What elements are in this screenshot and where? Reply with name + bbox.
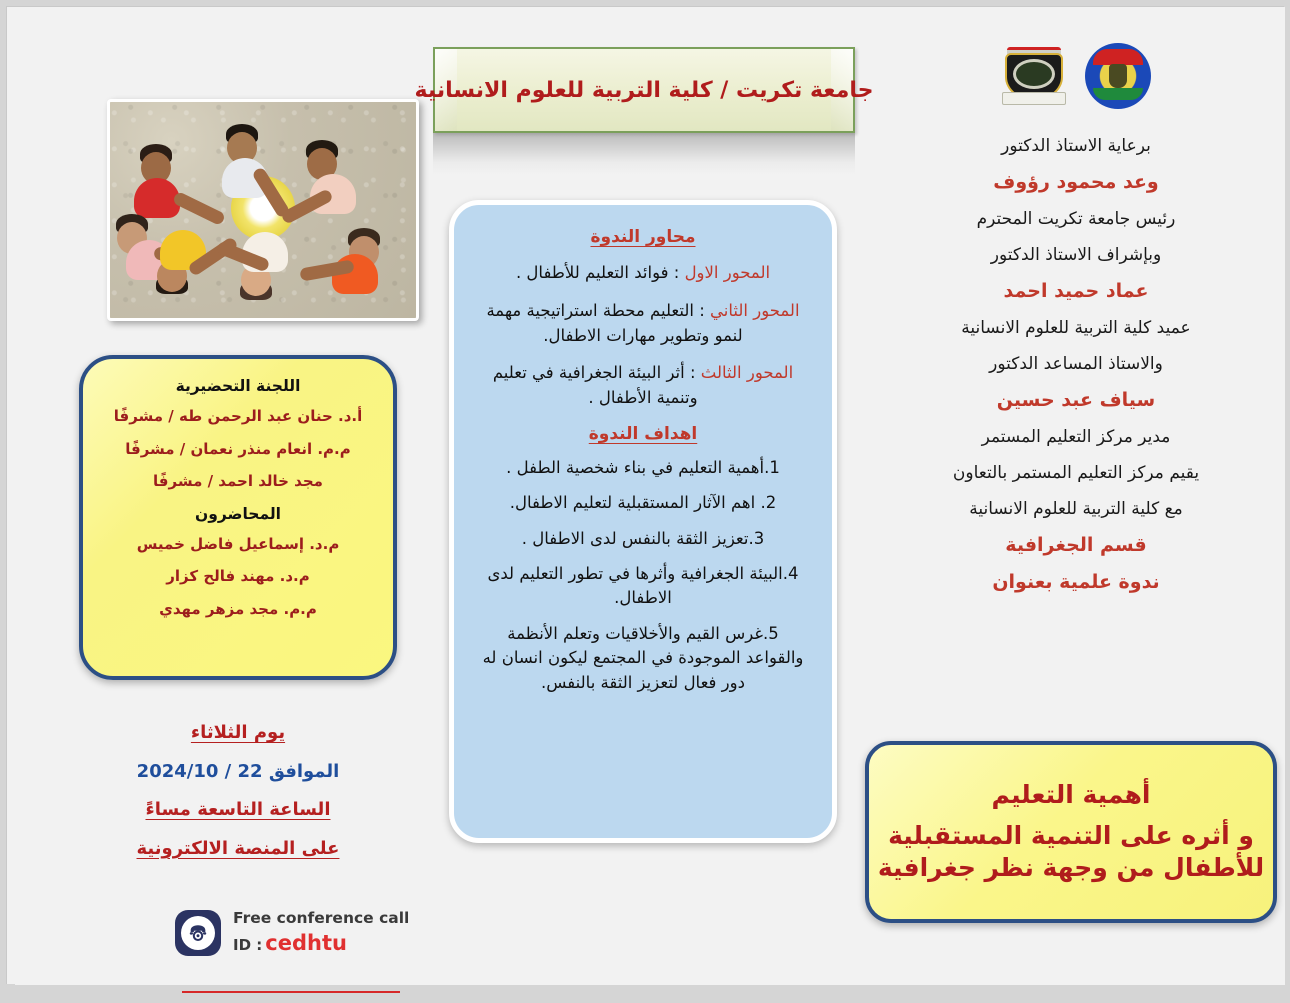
goal-item: 3.تعزيز الثقة بالنفس لدى الاطفال .: [480, 527, 806, 551]
conference-call-text: Free conference call ID : cedhtu: [233, 909, 409, 957]
schedule-block: يوم الثلاثاء الموافق 22 / 2024/10 الساعة…: [79, 722, 397, 876]
axis-item: المحور الاول : فوائد التعليم للأطفال .: [480, 261, 806, 286]
committee-lecturer: م.د. إسماعيل فاضل خميس: [103, 535, 373, 555]
lecturers-title: المحاضرون: [103, 505, 373, 523]
committee-title: اللجنة التحضيرية: [103, 377, 373, 395]
conference-call-block: Free conference call ID : cedhtu: [175, 909, 415, 957]
goal-item: 4.البيئة الجغرافية وأثرها في تطور التعلي…: [480, 562, 806, 611]
seminar-title-line-1: أهمية التعليم: [991, 779, 1150, 812]
seminar-title-card: أهمية التعليم و أثره على التنمية المستقب…: [865, 741, 1277, 923]
schedule-time: الساعة التاسعة مساءً: [79, 799, 397, 821]
goals-heading: اهداف الندوة: [480, 424, 806, 444]
axis-label: المحور الثالث: [701, 363, 793, 382]
tikrit-university-logo-icon: [1001, 43, 1067, 113]
department-name: قسم الجغرافية: [867, 534, 1285, 557]
sponsor-line: مدير مركز التعليم المستمر: [867, 426, 1285, 448]
goal-item: 5.غرس القيم والأخلاقيات وتعلم الأنظمة وا…: [480, 622, 806, 695]
axis-item: المحور الثالث : أثر البيئة الجغرافية في …: [480, 361, 806, 411]
bottom-red-divider: [182, 991, 400, 993]
schedule-platform: على المنصة الالكترونية: [79, 838, 397, 860]
sponsor-name: سياف عبد حسين: [867, 389, 1285, 412]
axis-text: : فوائد التعليم للأطفال .: [516, 263, 685, 282]
committee-lecturer: م.م. مجد مزهر مهدي: [103, 600, 373, 620]
children-photo: [107, 99, 419, 321]
goal-item: 2. اهم الآثار المستقبلية لتعليم الاطفال.: [480, 491, 806, 515]
committee-supervisor: أ.د. حنان عبد الرحمن طه / مشرفًا: [103, 407, 373, 427]
conference-call-id-label: ID :: [233, 936, 262, 955]
committee-supervisor: م.م. انعام منذر نعمان / مشرفًا: [103, 440, 373, 460]
sponsor-line: رئيس جامعة تكريت المحترم: [867, 208, 1285, 230]
conference-call-id-row: ID : cedhtu: [233, 930, 409, 956]
sponsor-line: برعاية الاستاذ الدكتور: [867, 135, 1285, 157]
conference-call-id-value: cedhtu: [265, 930, 347, 956]
telephone-icon: [175, 910, 221, 956]
schedule-day: يوم الثلاثاء: [79, 722, 397, 744]
sponsor-name: وعد محمود رؤوف: [867, 171, 1285, 194]
seminar-content-card: محاور الندوة المحور الاول : فوائد التعلي…: [449, 200, 837, 843]
seminar-label: ندوة علمية بعنوان: [867, 571, 1285, 594]
committee-card: اللجنة التحضيرية أ.د. حنان عبد الرحمن طه…: [79, 355, 397, 680]
sponsor-line: مع كلية التربية للعلوم الانسانية: [867, 498, 1285, 520]
sponsor-line: عميد كلية التربية للعلوم الانسانية: [867, 317, 1285, 339]
sponsor-line: يقيم مركز التعليم المستمر بالتعاون: [867, 462, 1285, 484]
axis-label: المحور الاول: [685, 263, 771, 282]
sponsor-line: والاستاذ المساعد الدكتور: [867, 353, 1285, 375]
header-banner-title: جامعة تكريت / كلية التربية للعلوم الانسا…: [415, 78, 874, 103]
sponsor-name: عماد حميد احمد: [867, 280, 1285, 303]
axis-label: المحور الثاني: [710, 301, 800, 320]
poster-frame: جامعة تكريت / كلية التربية للعلوم الانسا…: [6, 6, 1284, 984]
header-banner-shadow: [433, 133, 855, 175]
committee-supervisor: مجد خالد احمد / مشرفًا: [103, 472, 373, 492]
goal-item: 1.أهمية التعليم في بناء شخصية الطفل .: [480, 456, 806, 480]
sponsors-column: برعاية الاستاذ الدكتور وعد محمود رؤوف رئ…: [867, 43, 1285, 608]
axis-text: : أثر البيئة الجغرافية في تعليم وتنمية ا…: [493, 363, 701, 407]
sponsor-line: وبإشراف الاستاذ الدكتور: [867, 244, 1285, 266]
conference-call-title: Free conference call: [233, 909, 409, 928]
axis-text: : التعليم محطة استراتيجية مهمة لنمو وتطو…: [486, 301, 742, 345]
header-banner: جامعة تكريت / كلية التربية للعلوم الانسا…: [433, 47, 855, 133]
committee-lecturer: م.د. مهند فالح كزار: [103, 567, 373, 587]
schedule-date: الموافق 22 / 2024/10: [79, 761, 397, 783]
seminar-title-line-3: للأطفال من وجهة نظر جغرافية: [878, 852, 1264, 885]
axes-heading: محاور الندوة: [480, 227, 806, 247]
axis-item: المحور الثاني : التعليم محطة استراتيجية …: [480, 299, 806, 349]
seminar-title-line-2: و أثره على التنمية المستقبلية: [888, 820, 1254, 853]
telephone-icon-inner: [181, 916, 215, 950]
logos-row: [867, 43, 1285, 115]
iraq-ministry-logo-icon: [1085, 43, 1151, 109]
poster-page: جامعة تكريت / كلية التربية للعلوم الانسا…: [15, 7, 1285, 985]
